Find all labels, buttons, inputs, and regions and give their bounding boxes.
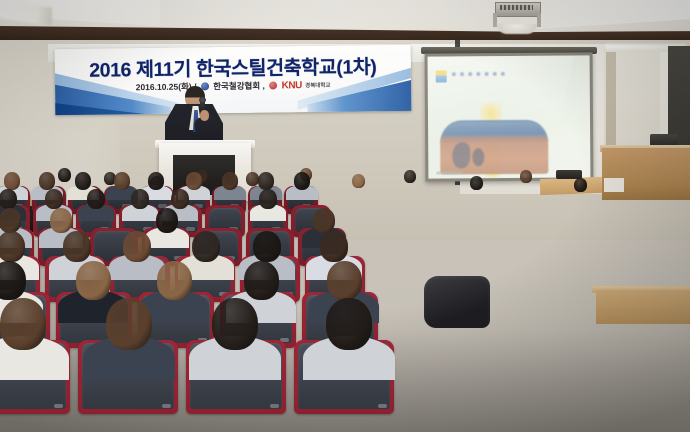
audience-member-head <box>39 172 55 190</box>
audience-member-head <box>0 231 25 262</box>
audience-member-head <box>0 208 21 233</box>
audience-member-head <box>171 189 189 209</box>
backpack <box>424 276 490 328</box>
front-table <box>596 290 690 324</box>
audience-member-head <box>259 189 277 209</box>
audience-member-head <box>212 298 258 350</box>
audience-member-head <box>470 176 483 190</box>
audience-member-head <box>313 208 335 233</box>
audience-member-head <box>320 231 348 262</box>
audience-member-head <box>253 231 281 262</box>
audience-member-head <box>87 189 105 209</box>
audience-member-head <box>45 189 63 209</box>
audience-member-head <box>106 298 152 350</box>
audience-member-head <box>244 261 279 300</box>
audience-member-head <box>114 172 130 190</box>
audience-member-head <box>0 189 17 209</box>
audience-member-head <box>4 172 20 190</box>
audience-member-head <box>192 231 220 262</box>
audience-member-head <box>574 178 587 192</box>
audience-seating <box>0 0 690 432</box>
audience-member-head <box>294 172 310 190</box>
audience-member-head <box>148 172 164 190</box>
audience-member-head <box>326 298 372 350</box>
audience-member-head <box>258 172 274 190</box>
audience-member-head <box>0 261 26 300</box>
audience-member-head <box>76 261 111 300</box>
audience-member-head <box>157 261 192 300</box>
audience-member-head <box>75 172 91 190</box>
audience-member-head <box>58 168 71 182</box>
audience-member-head <box>0 298 46 350</box>
audience-member-head <box>520 170 532 183</box>
audience-member-head <box>50 208 72 233</box>
audience-member-head <box>186 172 202 190</box>
audience-member-head <box>131 189 149 209</box>
audience-member-head <box>123 231 151 262</box>
seminar-hall-photo: 2016 제11기 한국스틸건축학교(1차) 2016.10.25(화) / 한… <box>0 0 690 432</box>
audience-member-head <box>156 208 178 233</box>
audience-member-head <box>352 174 365 188</box>
audience-member-head <box>327 261 362 300</box>
audience-member-head <box>63 231 91 262</box>
audience-member-head <box>404 170 416 183</box>
audience-member-head <box>222 172 238 190</box>
